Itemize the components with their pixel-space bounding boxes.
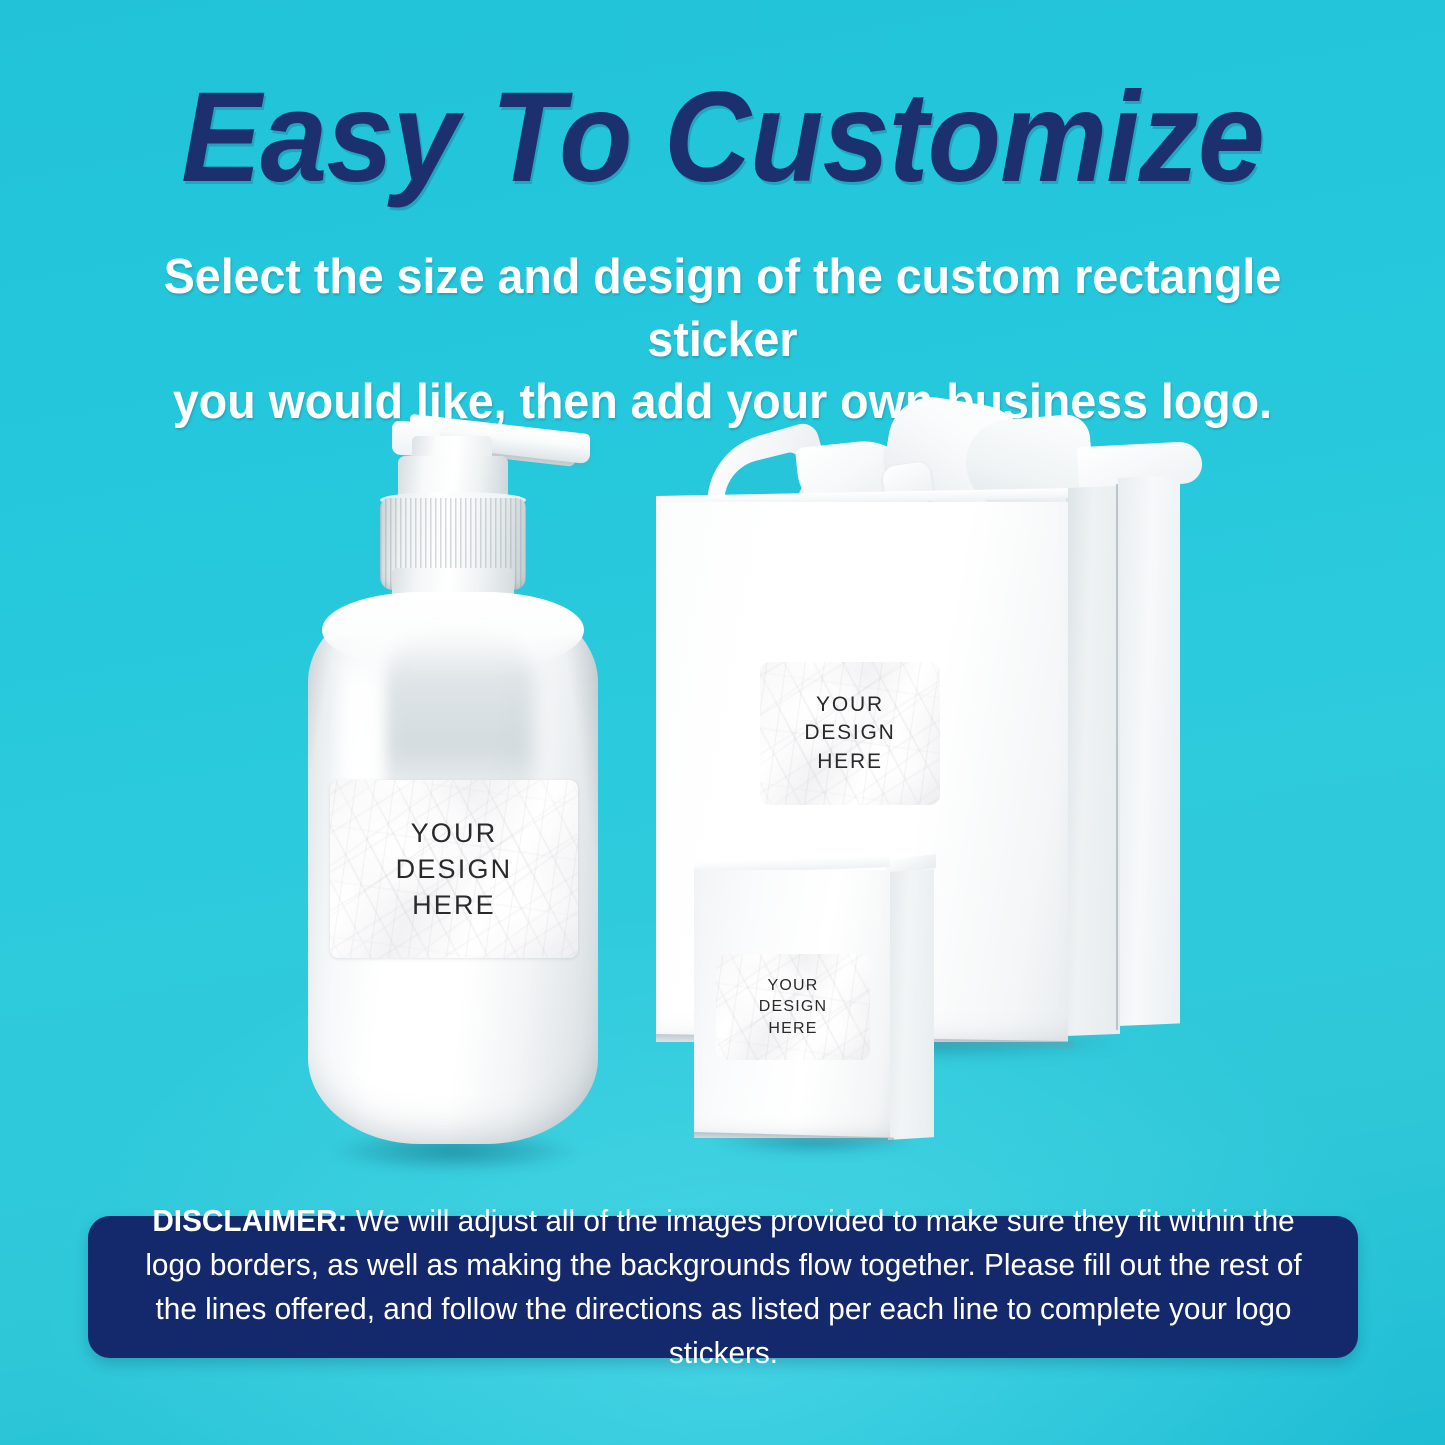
sticker-line-2: DESIGN <box>759 996 828 1018</box>
sticker-line-1: YOUR <box>804 691 895 719</box>
sticker-text: YOUR DESIGN HERE <box>804 691 895 775</box>
sticker-line-3: HERE <box>804 748 895 776</box>
gift-box-side-front <box>1066 486 1120 1036</box>
sticker-line-2: DESIGN <box>804 719 895 747</box>
pump-bottle: YOUR DESIGN HERE <box>288 418 618 1188</box>
promo-banner: Easy To Customize Select the size and de… <box>0 0 1445 1445</box>
small-box-sticker-label: YOUR DESIGN HERE <box>716 954 870 1060</box>
gift-box-sticker-label: YOUR DESIGN HERE <box>760 662 940 805</box>
bottle-sticker-label: YOUR DESIGN HERE <box>330 780 578 958</box>
page-title: Easy To Customize <box>43 74 1401 202</box>
sticker-line-3: HERE <box>396 887 513 923</box>
gift-box-seam <box>1116 484 1118 1030</box>
subtitle-line-1: Select the size and design of the custom… <box>105 246 1341 371</box>
disclaimer-label: DISCLAIMER: <box>152 1203 347 1238</box>
sticker-line-2: DESIGN <box>396 851 513 887</box>
sticker-text: YOUR DESIGN HERE <box>396 815 513 924</box>
small-box: YOUR DESIGN HERE <box>688 858 948 1162</box>
disclaimer-text: DISCLAIMER: We will adjust all of the im… <box>145 1199 1302 1375</box>
sticker-line-1: YOUR <box>759 975 828 997</box>
sticker-line-3: HERE <box>759 1018 828 1040</box>
product-scene: YOUR DESIGN HERE <box>0 400 1445 1190</box>
disclaimer-box: DISCLAIMER: We will adjust all of the im… <box>88 1216 1358 1358</box>
gift-box-side-back <box>1118 475 1180 1026</box>
sticker-line-1: YOUR <box>396 815 513 851</box>
sticker-text: YOUR DESIGN HERE <box>759 975 828 1040</box>
small-box-side-face <box>888 869 934 1140</box>
